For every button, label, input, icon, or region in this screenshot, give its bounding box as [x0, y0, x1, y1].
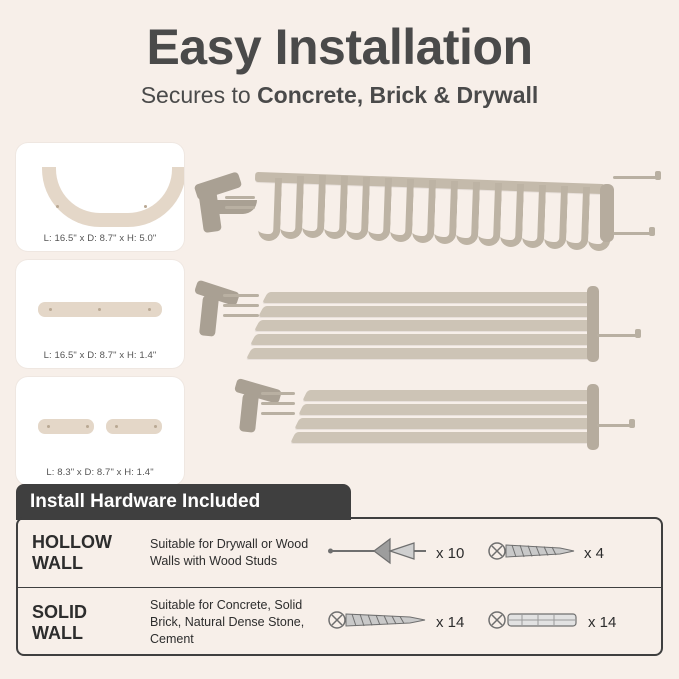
slat: [290, 432, 597, 443]
hardware-item-wall-plug: x 14: [488, 607, 616, 638]
spec-card-split: L: 8.3" x D: 8.7" x H: 1.4": [16, 377, 184, 485]
spec-card-dimensions: L: 16.5" x D: 8.7" x H: 5.0": [16, 233, 184, 244]
wood-screw-icon: [328, 607, 428, 638]
slat: [250, 334, 598, 345]
slat: [258, 306, 598, 317]
flat-slat-rack-render: [195, 278, 665, 373]
mount-bracket: [199, 295, 219, 336]
spec-card-dimensions: L: 8.3" x D: 8.7" x H: 1.4": [16, 467, 184, 478]
slat: [298, 404, 597, 415]
end-plate: [587, 286, 599, 362]
screw-head-icon: [655, 171, 661, 180]
split-slat-rack-render: [195, 378, 665, 468]
hardware-item-count: x 4: [584, 545, 604, 562]
hardware-row-label: SOLID WALL: [18, 602, 150, 643]
screw-icon: [223, 314, 259, 317]
slat: [254, 320, 598, 331]
hardware-panel: HOLLOW WALL Suitable for Drywall or Wood…: [16, 517, 663, 656]
screw-icon: [597, 424, 633, 427]
screw-icon: [223, 294, 259, 297]
hardware-label-line2: WALL: [32, 553, 150, 574]
subtitle-prefix: Secures to: [141, 82, 257, 108]
page-header: Easy Installation Secures to Concrete, B…: [0, 20, 679, 109]
screw-head-icon: [635, 329, 641, 338]
screw-icon: [261, 412, 295, 415]
curved-hook-rack-render: [195, 160, 665, 265]
slat: [294, 418, 597, 429]
hardware-row-hollow-wall: HOLLOW WALL Suitable for Drywall or Wood…: [18, 519, 661, 588]
hardware-label-line1: HOLLOW: [32, 532, 150, 553]
split-wood-rack-icon: [16, 387, 184, 461]
hardware-label-line1: SOLID: [32, 602, 150, 623]
screw-icon: [261, 402, 295, 405]
spec-card-dimensions: L: 16.5" x D: 8.7" x H: 1.4": [16, 350, 184, 361]
screw-icon: [225, 196, 255, 199]
page-title: Easy Installation: [0, 20, 679, 74]
slat: [246, 348, 598, 359]
wood-screw-icon: [488, 538, 576, 569]
flat-wood-rack-icon: [16, 270, 184, 344]
wall-plug-icon: [488, 607, 580, 638]
end-plate: [587, 384, 599, 450]
screw-head-icon: [649, 227, 655, 236]
hardware-item-wood-screw: x 14: [328, 607, 488, 638]
spec-card-flat: L: 16.5" x D: 8.7" x H: 1.4": [16, 260, 184, 368]
spec-card-list: L: 16.5" x D: 8.7" x H: 5.0" L: 16.5" x …: [16, 143, 186, 494]
mount-bracket: [239, 393, 259, 432]
hardware-row-solid-wall: SOLID WALL Suitable for Concrete, Solid …: [18, 588, 661, 657]
screw-icon: [597, 334, 639, 337]
screw-icon: [223, 304, 259, 307]
hardware-row-label: HOLLOW WALL: [18, 532, 150, 573]
hardware-panel-title: Install Hardware Included: [16, 484, 351, 520]
hardware-row-description: Suitable for Concrete, Solid Brick, Natu…: [150, 597, 328, 648]
subtitle-bold: Concrete, Brick & Drywall: [257, 82, 538, 108]
end-plate: [600, 184, 614, 242]
hardware-item-count: x 14: [436, 614, 464, 631]
screw-icon: [261, 392, 295, 395]
slat: [302, 390, 597, 401]
screw-icon: [613, 232, 653, 235]
spec-card-curved: L: 16.5" x D: 8.7" x H: 5.0": [16, 143, 184, 251]
hardware-label-line2: WALL: [32, 623, 150, 644]
hardware-row-description: Suitable for Drywall or Wood Walls with …: [150, 536, 328, 570]
screw-icon: [225, 206, 255, 209]
hardware-item-count: x 14: [588, 614, 616, 631]
curved-wood-rack-icon: [16, 153, 184, 227]
page-subtitle: Secures to Concrete, Brick & Drywall: [0, 82, 679, 109]
toggle-anchor-icon: [328, 534, 428, 573]
screw-head-icon: [629, 419, 635, 428]
screw-icon: [613, 176, 659, 179]
hardware-item-wood-screw: x 4: [488, 538, 604, 569]
slat: [262, 292, 598, 303]
hardware-item-count: x 10: [436, 545, 464, 562]
hardware-item-toggle-anchor: x 10: [328, 534, 488, 573]
